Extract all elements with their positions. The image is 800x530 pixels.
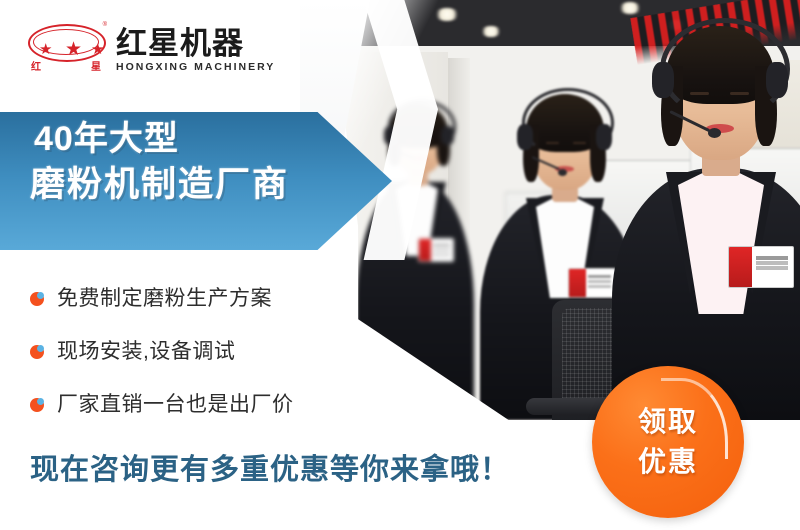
list-item-label: 厂家直销一台也是出厂价 — [57, 393, 294, 417]
logo-char-right: 星 — [91, 58, 101, 73]
cta-line-2: 优惠 — [638, 442, 698, 482]
bullet-dot-icon — [30, 344, 45, 359]
feature-bullet-list: 免费制定磨粉生产方案 现场安装,设备调试 厂家直销一台也是出厂价 — [30, 272, 390, 431]
list-item: 现场安装,设备调试 — [30, 325, 390, 378]
list-item: 免费制定磨粉生产方案 — [30, 272, 390, 325]
brand-wordmark: 红星机器 HONGXING MACHINERY — [116, 27, 275, 74]
promo-banner: ® 红 星 红星机器 HONGXING MACHINERY 40年大型 磨粉机制… — [0, 0, 800, 530]
headline-line-1: 40年大型 — [30, 116, 360, 162]
claim-discount-button-label: 领取 优惠 — [592, 366, 744, 518]
bullet-dot-icon — [30, 397, 45, 412]
brand-name-cn: 红星机器 — [116, 27, 275, 61]
hongxing-three-star-oval-logo-icon: ® 红 星 — [28, 22, 106, 78]
ceiling-light-icon — [618, 2, 642, 14]
registered-mark: ® — [103, 22, 107, 28]
bullet-dot-icon — [30, 291, 45, 306]
headline-line-2: 磨粉机制造厂商 — [30, 162, 360, 208]
logo-char-left: 红 — [31, 58, 41, 73]
brand-name-en: HONGXING MACHINERY — [116, 61, 275, 74]
brand-logo[interactable]: ® 红 星 红星机器 HONGXING MACHINERY — [28, 22, 275, 78]
list-item-label: 现场安装,设备调试 — [57, 340, 235, 364]
logo-sub-characters: 红 星 — [31, 58, 101, 73]
list-item: 厂家直销一台也是出厂价 — [30, 378, 390, 431]
claim-discount-button[interactable]: 领取 优惠 — [592, 366, 744, 518]
list-item-label: 免费制定磨粉生产方案 — [57, 287, 272, 311]
logo-stars — [39, 33, 91, 50]
cta-line-1: 领取 — [638, 402, 698, 442]
bottom-slogan: 现在咨询更有多重优惠等你来拿哦！ — [30, 446, 510, 488]
ceiling-light-icon — [434, 8, 460, 21]
headline-text: 40年大型 磨粉机制造厂商 — [30, 116, 360, 208]
ceiling-light-icon — [480, 26, 502, 37]
